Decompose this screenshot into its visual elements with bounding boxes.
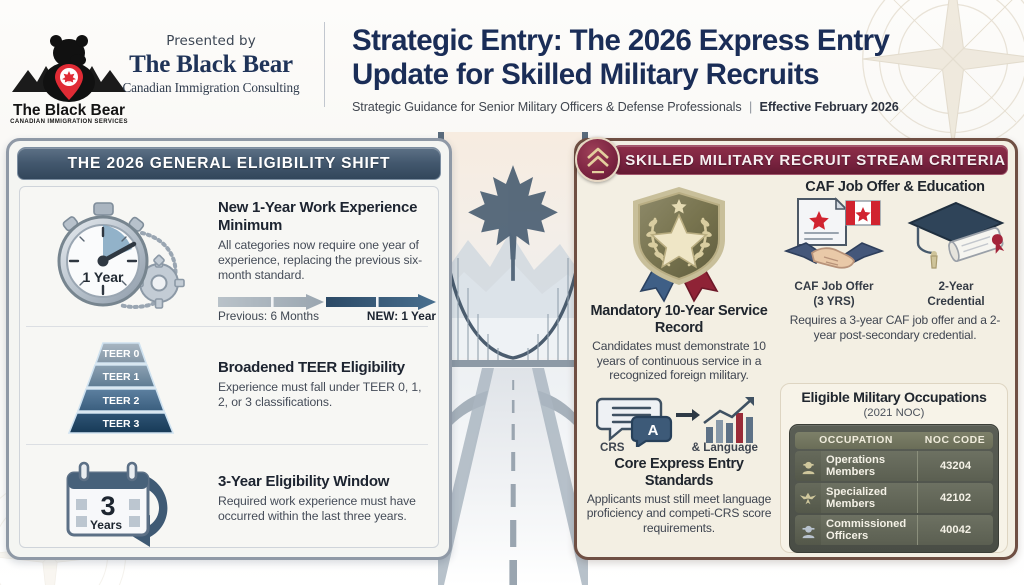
right-panel: SKILLED MILITARY RECRUIT STREAM CRITERIA [574, 138, 1018, 560]
eligible-occupations-card: Eligible Military Occupations (2021 NOC)… [780, 383, 1008, 553]
teer-body: Experience must fall under TEER 0, 1, 2,… [218, 380, 424, 410]
left-panel: THE 2026 GENERAL ELIGIBILITY SHIFT [6, 138, 452, 560]
occupations-subtitle: (2021 NOC) [789, 407, 999, 420]
service-record-body: Candidates must demonstrate 10 years of … [586, 339, 772, 383]
right-panel-body: Mandatory 10-Year Service Record Candida… [586, 179, 1006, 549]
occupation-noc-code: 42102 [917, 483, 993, 513]
work-experience-text: New 1-Year Work Experience Minimum All c… [216, 199, 440, 326]
occupations-table: OCCUPATION NOC CODE [795, 430, 993, 547]
column-header-noc-code: NOC CODE [917, 432, 993, 449]
core-standards-body: Applicants must still meet language prof… [586, 492, 772, 536]
caf-job-offer-caption-2: (3 YRS) [782, 295, 886, 309]
effective-date: Effective February 2026 [760, 100, 899, 114]
page-title-line2: Update for Skilled Military Recruits [352, 58, 952, 92]
window-body: Required work experience must have occur… [218, 494, 424, 524]
teer-tier-0-label: TEER 0 [103, 348, 140, 360]
caf-icons-row: CAF Job Offer (3 YRS) [782, 197, 1008, 308]
caf-heading: CAF Job Offer & Education [782, 179, 1008, 195]
officer-icon [795, 515, 821, 545]
soldier-icon [795, 451, 821, 481]
stopwatch-icon-wrap: 1 Year [26, 199, 216, 317]
presented-by-block: Presented by The Black Bear Canadian Imm… [118, 33, 304, 96]
crs-language-icon: A [596, 393, 762, 447]
crs-language-icon-wrap: A [586, 393, 772, 447]
officer-glyph [800, 522, 817, 539]
crs-language-labels: CRS & Language [586, 441, 772, 454]
brand-subtitle: Canadian Immigration Consulting [118, 80, 304, 96]
teer-title: Broadened TEER Eligibility [218, 359, 424, 377]
language-label: & Language [692, 441, 758, 454]
caf-job-offer-item: CAF Job Offer (3 YRS) [782, 197, 886, 308]
handshake-flag-icon [782, 197, 886, 279]
svg-text:A: A [648, 422, 659, 439]
timeline-previous-label: Previous: 6 Months [218, 309, 319, 323]
title-block: Strategic Entry: The 2026 Express Entry … [352, 24, 952, 114]
header: The Black Bear CANADIAN IMMIGRATION SERV… [0, 0, 1024, 128]
right-panel-right-column: CAF Job Offer & Education [778, 179, 1008, 549]
core-standards-title: Core Express Entry Standards [586, 456, 772, 490]
eligibility-item-window: 3 Years 3-Year Eligibility Window Requir… [26, 444, 428, 554]
teer-pyramid-icon: TEER 0 TEER 1 TEER 2 TEER 3 [51, 337, 191, 435]
header-divider [324, 22, 325, 107]
work-experience-body: All categories now require one year of e… [218, 238, 436, 284]
stopwatch-icon-label: 1 Year [82, 269, 124, 285]
left-panel-body: 1 Year New 1-Year Work Experience Minimu… [19, 186, 439, 548]
right-panel-header-label: SKILLED MILITARY RECRUIT STREAM CRITERIA [615, 152, 1006, 169]
right-panel-header: SKILLED MILITARY RECRUIT STREAM CRITERIA [613, 145, 1008, 175]
eligibility-item-teer: TEER 0 TEER 1 TEER 2 TEER 3 Broadened TE… [26, 326, 428, 444]
svg-text:CANADIAN IMMIGRATION SERVICES: CANADIAN IMMIGRATION SERVICES [10, 119, 128, 124]
occupations-title: Eligible Military Occupations [789, 390, 999, 407]
infographic-canvas: The Black Bear CANADIAN IMMIGRATION SERV… [0, 0, 1024, 585]
occupation-noc-code: 40042 [917, 515, 993, 545]
teer-tier-3-label: TEER 3 [103, 418, 140, 430]
calendar-icon-number: 3 [100, 491, 115, 521]
svg-text:The Black Bear: The Black Bear [13, 102, 125, 119]
bridge-maple-leaf-illustration [438, 132, 588, 585]
credential-caption-2: Credential [904, 295, 1008, 309]
experience-timeline: Previous: 6 Months NEW: 1 Year [218, 294, 436, 326]
black-bear-logo: The Black Bear CANADIAN IMMIGRATION SERV… [6, 20, 132, 124]
teer-tier-2-label: TEER 2 [103, 395, 140, 407]
window-text: 3-Year Eligibility Window Required work … [216, 459, 428, 524]
occupation-name: Specialized Members [821, 483, 917, 513]
window-title: 3-Year Eligibility Window [218, 473, 424, 491]
timeline-labels: Previous: 6 Months NEW: 1 Year [218, 309, 436, 323]
calendar-icon-wrap: 3 Years [26, 459, 216, 549]
teer-pyramid-wrap: TEER 0 TEER 1 TEER 2 TEER 3 [26, 337, 216, 435]
caf-description: Requires a 3-year CAF job offer and a 2-… [782, 313, 1008, 342]
medal-shield-icon [615, 183, 743, 303]
medal-shield-icon-wrap [586, 183, 772, 303]
occupation-noc-code: 43204 [917, 451, 993, 481]
left-panel-header: THE 2026 GENERAL ELIGIBILITY SHIFT [17, 147, 441, 180]
credential-caption-1: 2-Year [904, 280, 1008, 294]
soldier-glyph [800, 458, 817, 475]
table-row[interactable]: Commissioned Officers 40042 [795, 515, 993, 545]
service-record-block: Mandatory 10-Year Service Record Candida… [586, 183, 772, 383]
core-standards-block: A [586, 393, 772, 536]
chevron-rank-glyph [585, 146, 611, 174]
occupation-name: Operations Members [821, 451, 917, 481]
subtitle-text: Strategic Guidance for Senior Military O… [352, 100, 742, 114]
military-rank-chevron-icon [575, 137, 620, 182]
column-header-occupation: OCCUPATION [795, 432, 917, 449]
eligibility-item-work-experience: 1 Year New 1-Year Work Experience Minimu… [26, 191, 428, 326]
teer-text: Broadened TEER Eligibility Experience mu… [216, 337, 428, 410]
occupation-name: Commissioned Officers [821, 515, 917, 545]
timeline-new-label: NEW: 1 Year [367, 309, 436, 323]
left-panel-header-label: THE 2026 GENERAL ELIGIBILITY SHIFT [68, 155, 391, 173]
work-experience-title: New 1-Year Work Experience Minimum [218, 199, 436, 235]
eagle-glyph [799, 490, 817, 507]
subtitle-separator: | [745, 100, 756, 114]
calendar-icon-unit: Years [90, 518, 122, 532]
calendar-icon: 3 Years [46, 459, 196, 549]
table-row[interactable]: Specialized Members 42102 [795, 483, 993, 513]
service-record-title: Mandatory 10-Year Service Record [586, 303, 772, 337]
graduation-cap-diploma-icon [904, 197, 1008, 279]
teer-tier-1-label: TEER 1 [103, 371, 140, 383]
right-panel-left-column: Mandatory 10-Year Service Record Candida… [586, 179, 772, 549]
page-subtitle: Strategic Guidance for Senior Military O… [352, 100, 952, 114]
brand-name: The Black Bear [118, 50, 304, 80]
caf-job-offer-caption-1: CAF Job Offer [782, 280, 886, 294]
presented-by-label: Presented by [118, 33, 304, 49]
eagle-insignia-icon [795, 483, 821, 513]
table-row[interactable]: Operations Members 43204 [795, 451, 993, 481]
page-title-line1: Strategic Entry: The 2026 Express Entry [352, 24, 952, 58]
crs-label: CRS [600, 441, 624, 454]
table-header-row: OCCUPATION NOC CODE [795, 432, 993, 449]
occupations-table-frame: OCCUPATION NOC CODE [789, 424, 999, 553]
credential-item: 2-Year Credential [904, 197, 1008, 308]
timeline-arrows-icon [218, 294, 436, 310]
stopwatch-icon: 1 Year [46, 199, 196, 317]
